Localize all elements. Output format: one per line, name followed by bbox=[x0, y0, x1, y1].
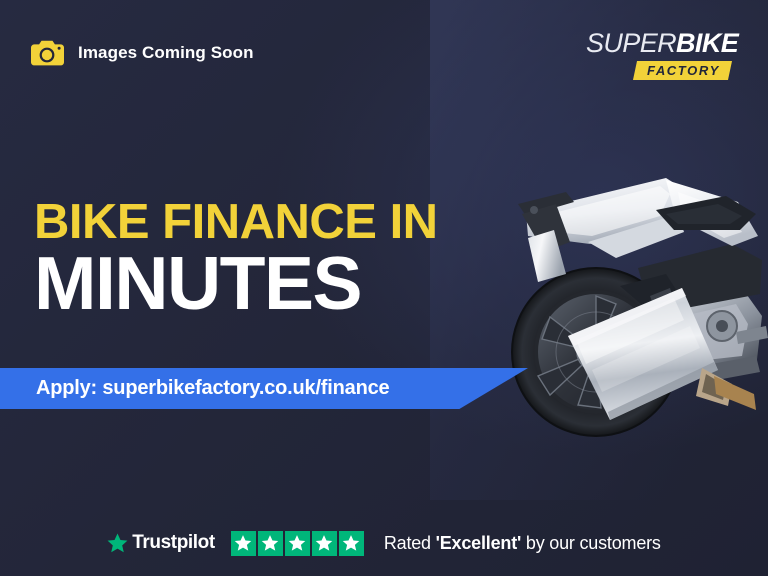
star-icon bbox=[315, 534, 333, 552]
apply-url-banner[interactable]: Apply: superbikefactory.co.uk/finance bbox=[0, 368, 528, 409]
promo-banner: Images Coming Soon SUPERBIKE FACTORY BIK… bbox=[0, 0, 768, 576]
logo-factory-text: FACTORY bbox=[647, 63, 720, 78]
star-icon bbox=[234, 534, 252, 552]
logo-bike-text: BIKE bbox=[676, 28, 738, 58]
trustpilot-star-icon bbox=[107, 533, 128, 553]
rating-star-5 bbox=[339, 531, 364, 556]
motorcycle-illustration bbox=[470, 118, 768, 448]
superbike-factory-logo: SUPERBIKE FACTORY bbox=[586, 28, 730, 80]
images-coming-soon-label: Images Coming Soon bbox=[78, 43, 254, 63]
rated-value: 'Excellent' bbox=[436, 533, 521, 553]
rated-prefix: Rated bbox=[384, 533, 436, 553]
apply-url-text: Apply: superbikefactory.co.uk/finance bbox=[0, 377, 389, 400]
logo-super-text: SUPER bbox=[586, 28, 676, 58]
trustpilot-brand-label: Trustpilot bbox=[132, 532, 215, 554]
trustpilot-rated-text: Rated 'Excellent' by our customers bbox=[384, 533, 661, 554]
headline-block: BIKE FINANCE IN MINUTES bbox=[34, 196, 504, 322]
banner-top-row: Images Coming Soon SUPERBIKE FACTORY bbox=[0, 0, 768, 104]
logo-wordmark: SUPERBIKE bbox=[586, 28, 730, 58]
trustpilot-footer: Trustpilot bbox=[0, 510, 768, 576]
images-coming-soon-notice: Images Coming Soon bbox=[30, 40, 254, 66]
motorcycle-image bbox=[470, 118, 768, 448]
headline-line-2: MINUTES bbox=[34, 244, 504, 322]
star-icon bbox=[288, 534, 306, 552]
trustpilot-logo: Trustpilot bbox=[107, 532, 215, 554]
logo-factory-wrap: FACTORY bbox=[586, 61, 730, 80]
rating-star-1 bbox=[231, 531, 256, 556]
rating-star-3 bbox=[285, 531, 310, 556]
trustpilot-rating-stars bbox=[231, 531, 364, 556]
rated-suffix: by our customers bbox=[521, 533, 661, 553]
camera-icon bbox=[30, 40, 64, 66]
star-icon bbox=[261, 534, 279, 552]
star-icon bbox=[342, 534, 360, 552]
logo-factory-banner: FACTORY bbox=[633, 61, 732, 80]
rating-star-2 bbox=[258, 531, 283, 556]
rating-star-4 bbox=[312, 531, 337, 556]
